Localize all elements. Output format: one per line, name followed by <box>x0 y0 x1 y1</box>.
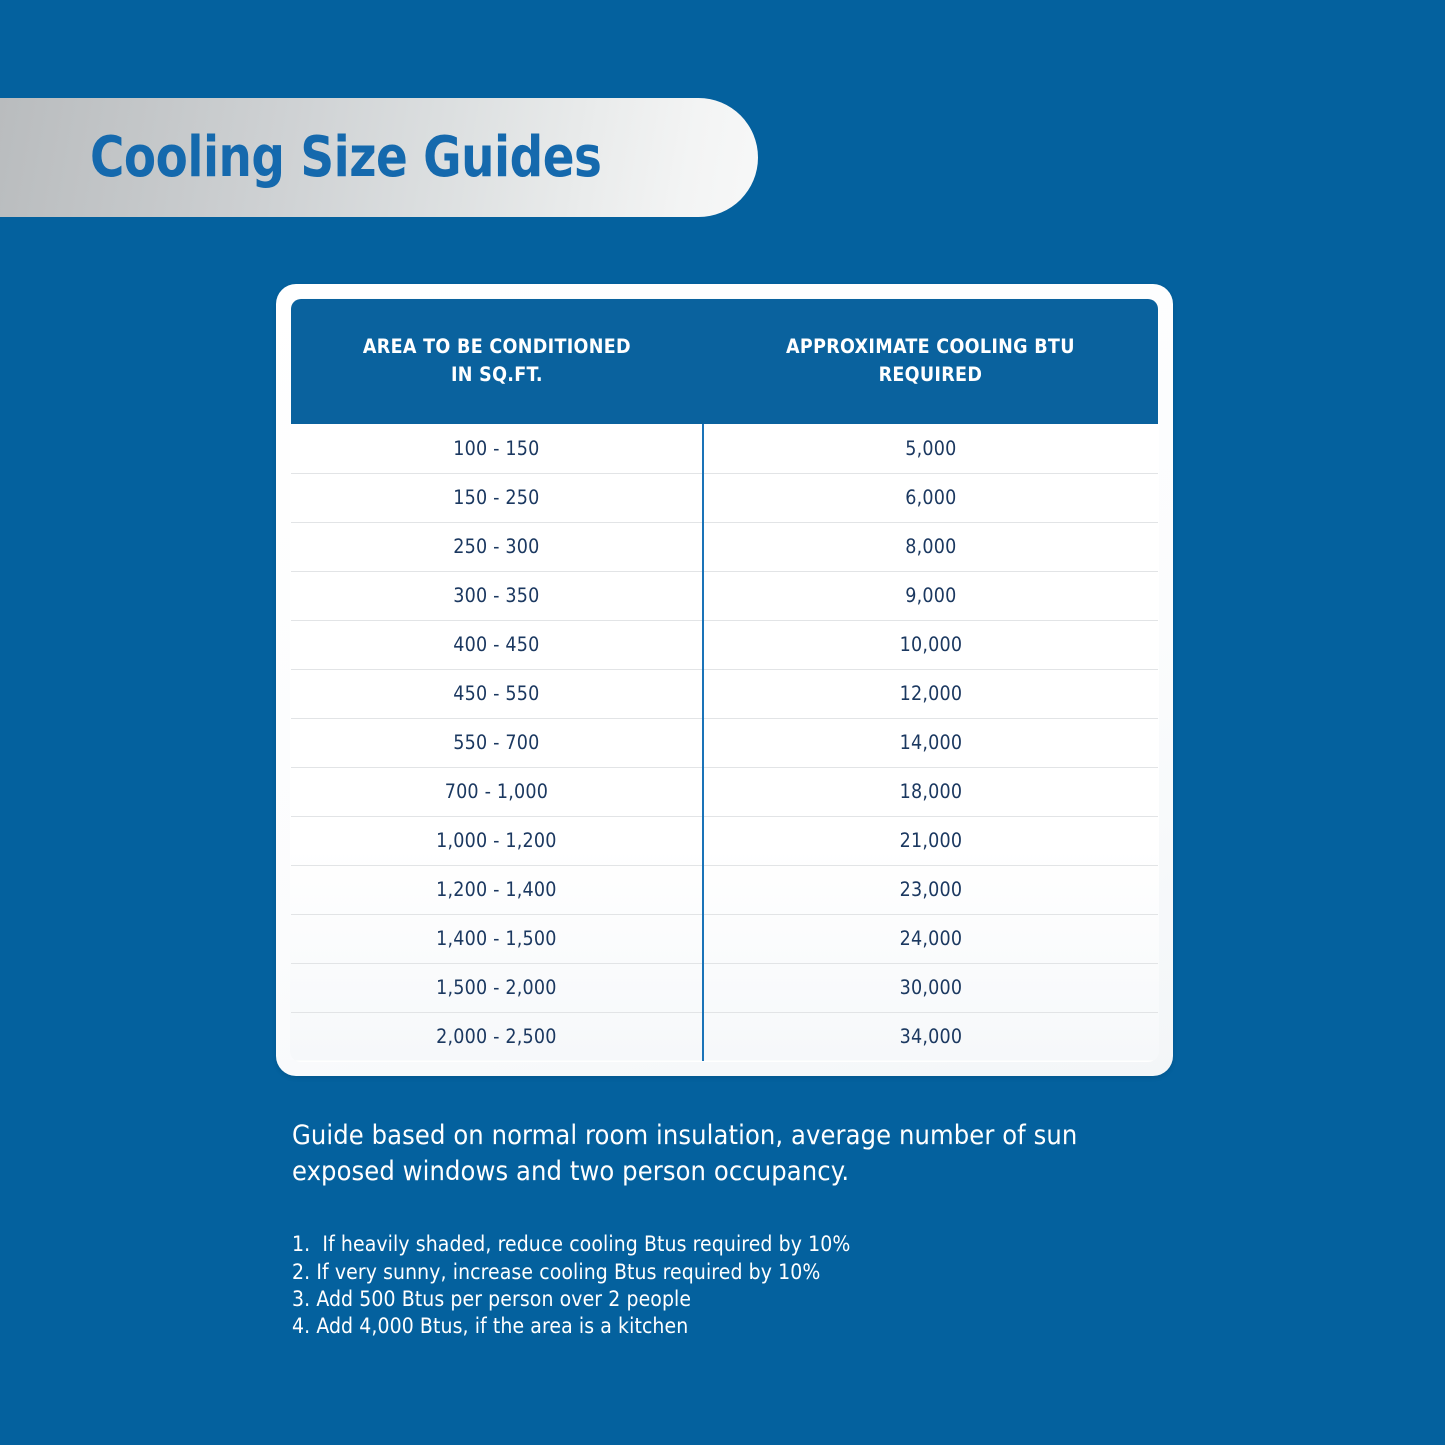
table-row: 550 - 70014,000 <box>291 718 1159 767</box>
cell-area: 1,200 - 1,400 <box>291 865 703 914</box>
column-header-btu: APPROXIMATE COOLING BTU REQUIRED <box>703 299 1159 425</box>
cell-area: 250 - 300 <box>291 522 703 571</box>
table-row: 1,400 - 1,50024,000 <box>291 914 1159 963</box>
cell-btu: 30,000 <box>703 963 1159 1012</box>
cell-area: 1,000 - 1,200 <box>291 816 703 865</box>
title-banner: Cooling Size Guides <box>0 98 758 217</box>
cell-area: 400 - 450 <box>291 620 703 669</box>
notes-list: 1. If heavily shaded, reduce cooling Btu… <box>292 1231 1162 1340</box>
cell-btu: 5,000 <box>703 424 1159 473</box>
table-row: 450 - 55012,000 <box>291 669 1159 718</box>
page-title: Cooling Size Guides <box>90 130 601 186</box>
table-header: AREA TO BE CONDITIONED IN SQ.FT. APPROXI… <box>291 299 1159 425</box>
table-row: 1,200 - 1,40023,000 <box>291 865 1159 914</box>
cooling-size-table: AREA TO BE CONDITIONED IN SQ.FT. APPROXI… <box>290 298 1159 1062</box>
table-row: 400 - 45010,000 <box>291 620 1159 669</box>
cell-btu: 24,000 <box>703 914 1159 963</box>
cell-btu: 12,000 <box>703 669 1159 718</box>
notes-list-item: 4. Add 4,000 Btus, if the area is a kitc… <box>292 1313 1162 1340</box>
cell-btu: 34,000 <box>703 1012 1159 1061</box>
cell-area: 1,500 - 2,000 <box>291 963 703 1012</box>
cell-area: 300 - 350 <box>291 571 703 620</box>
cell-area: 2,000 - 2,500 <box>291 1012 703 1061</box>
cell-btu: 9,000 <box>703 571 1159 620</box>
table-row: 2,000 - 2,50034,000 <box>291 1012 1159 1061</box>
notes-list-item: 1. If heavily shaded, reduce cooling Btu… <box>292 1231 1162 1258</box>
column-header-area-line2: IN SQ.FT. <box>451 363 543 386</box>
table-row: 100 - 1505,000 <box>291 424 1159 473</box>
cell-btu: 14,000 <box>703 718 1159 767</box>
cell-btu: 10,000 <box>703 620 1159 669</box>
table-body: 100 - 1505,000150 - 2506,000250 - 3008,0… <box>291 424 1159 1061</box>
column-header-area: AREA TO BE CONDITIONED IN SQ.FT. <box>291 299 703 425</box>
notes-list-item: 3. Add 500 Btus per person over 2 people <box>292 1286 1162 1313</box>
cell-area: 1,400 - 1,500 <box>291 914 703 963</box>
notes-intro: Guide based on normal room insulation, a… <box>292 1118 1122 1189</box>
cooling-size-table-card: AREA TO BE CONDITIONED IN SQ.FT. APPROXI… <box>276 284 1173 1076</box>
cell-btu: 18,000 <box>703 767 1159 816</box>
table-row: 150 - 2506,000 <box>291 473 1159 522</box>
cell-area: 450 - 550 <box>291 669 703 718</box>
table-row: 1,000 - 1,20021,000 <box>291 816 1159 865</box>
cell-btu: 21,000 <box>703 816 1159 865</box>
table-row: 700 - 1,00018,000 <box>291 767 1159 816</box>
notes-list-item: 2. If very sunny, increase cooling Btus … <box>292 1259 1162 1286</box>
cell-area: 550 - 700 <box>291 718 703 767</box>
column-header-btu-line1: APPROXIMATE COOLING BTU <box>786 335 1075 358</box>
column-header-btu-line2: REQUIRED <box>879 363 983 386</box>
cell-btu: 8,000 <box>703 522 1159 571</box>
cell-area: 700 - 1,000 <box>291 767 703 816</box>
table-row: 250 - 3008,000 <box>291 522 1159 571</box>
cell-btu: 6,000 <box>703 473 1159 522</box>
column-header-area-line1: AREA TO BE CONDITIONED <box>363 335 631 358</box>
table-row: 1,500 - 2,00030,000 <box>291 963 1159 1012</box>
table-header-row: AREA TO BE CONDITIONED IN SQ.FT. APPROXI… <box>291 299 1159 425</box>
cell-area: 150 - 250 <box>291 473 703 522</box>
cell-area: 100 - 150 <box>291 424 703 473</box>
cell-btu: 23,000 <box>703 865 1159 914</box>
table-row: 300 - 3509,000 <box>291 571 1159 620</box>
notes-section: Guide based on normal room insulation, a… <box>292 1118 1162 1340</box>
